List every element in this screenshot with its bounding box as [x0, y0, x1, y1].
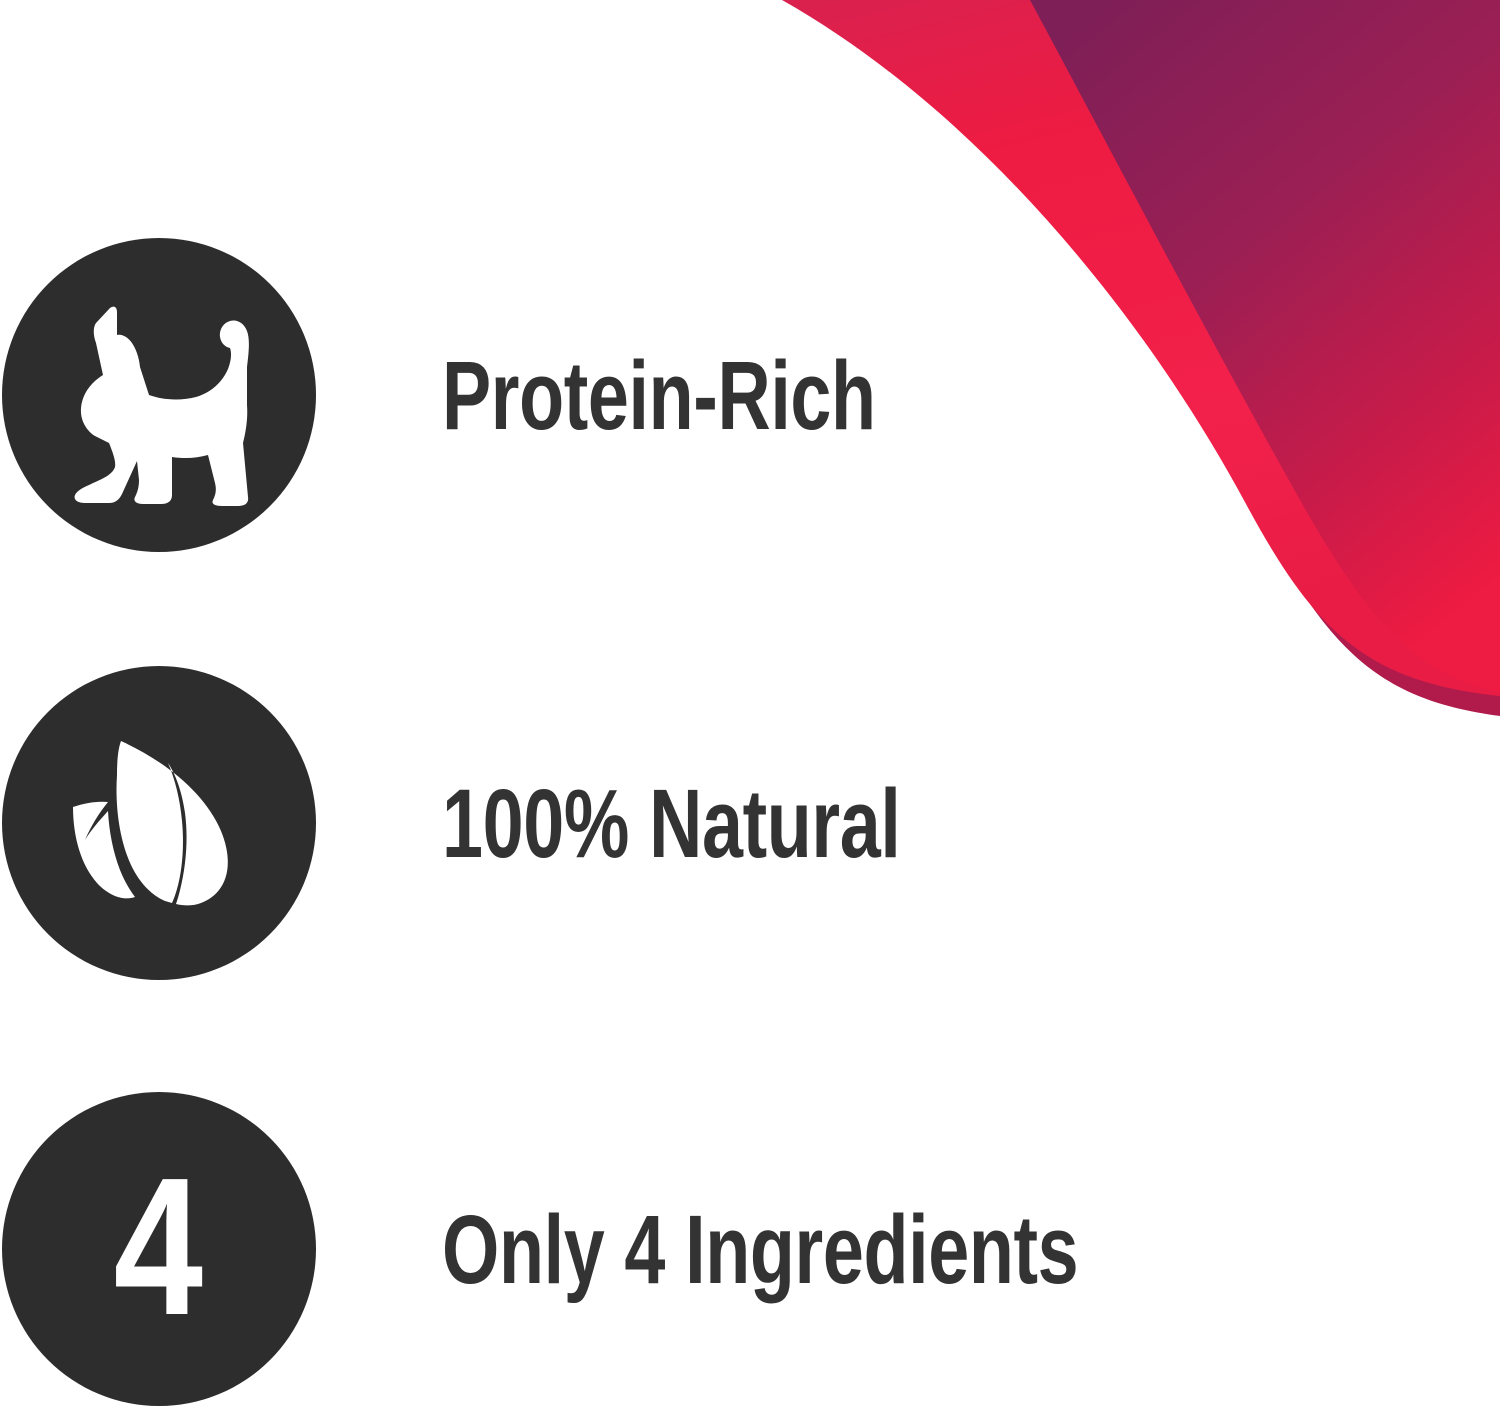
feature-row: 4 Only 4 Ingredients [0, 1092, 1180, 1408]
feature-badge [0, 238, 316, 554]
product-feature-panel: Protein-Rich 100% Natural 4 Only 4 Ingre… [0, 0, 1500, 1412]
cat-icon [33, 271, 283, 521]
feature-label: Protein-Rich [442, 347, 876, 446]
leaf-icon [43, 709, 273, 939]
feature-label: Only 4 Ingredients [442, 1201, 1078, 1300]
feature-row: Protein-Rich [0, 238, 1180, 554]
number-four-icon: 4 [114, 1149, 202, 1345]
feature-row: 100% Natural [0, 666, 1180, 982]
feature-label: 100% Natural [442, 775, 900, 874]
feature-badge: 4 [0, 1092, 316, 1408]
feature-badge [0, 666, 316, 982]
